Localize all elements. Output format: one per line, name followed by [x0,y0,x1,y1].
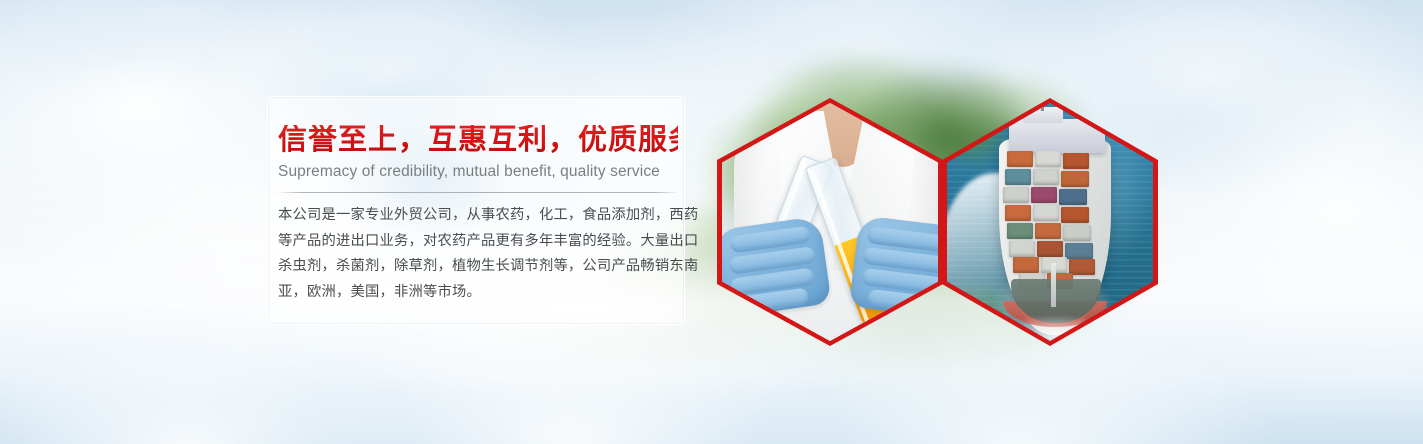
company-description: 本公司是一家专业外贸公司，从事农药，化工，食品添加剂，西药 等产品的进出口业务，… [278,203,678,305]
divider [278,192,678,193]
description-line: 本公司是一家专业外贸公司，从事农药，化工，食品添加剂，西药 [278,203,678,229]
cloud [1130,60,1423,360]
description-line: 亚，欧洲，美国，非洲等市场。 [278,280,678,306]
page-title: 信誉至上，互惠互利，优质服务 [278,125,678,157]
cloud [1180,230,1423,444]
sky-patch [0,0,240,110]
description-line: 等产品的进出口业务，对农药产品更有多年丰富的经验。大量出口 [278,229,678,255]
description-line: 杀虫剂，杀菌剂，除草剂，植物生长调节剂等，公司产品畅销东南 [278,254,678,280]
sky-background [0,0,1423,444]
ship-crane [1051,263,1056,307]
slogan-panel: 信誉至上，互惠互利，优质服务 Supremacy of credibility,… [267,96,685,325]
page-subtitle: Supremacy of credibility, mutual benefit… [278,163,678,181]
sky-patch [760,0,1020,120]
company-hero-banner: 信誉至上，互惠互利，优质服务 Supremacy of credibility,… [0,0,1423,444]
